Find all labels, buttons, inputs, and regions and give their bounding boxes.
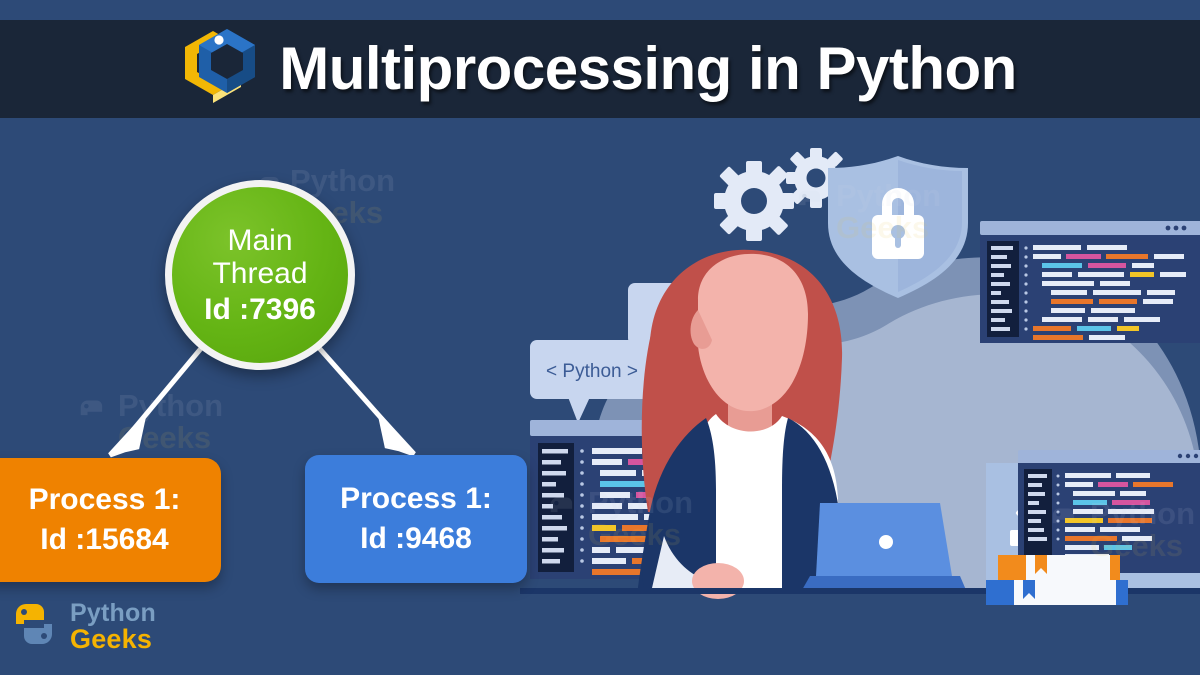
watermark: Python Geeks xyxy=(118,390,223,453)
top-strip xyxy=(0,0,1200,20)
arrow-to-process-left xyxy=(133,340,208,430)
code-window-bottom-right xyxy=(1018,450,1200,573)
screenshot-root: Multiprocessing in Python xyxy=(0,0,1200,675)
process-box-orange[interactable]: Process 1: Id :15684 xyxy=(0,458,221,582)
brand-logo: Python Geeks xyxy=(6,596,156,657)
process-blue-id: Id :9468 xyxy=(360,519,472,559)
python-bubble-text: < Python > xyxy=(546,361,638,382)
process-box-blue[interactable]: Process 1: Id :9468 xyxy=(305,455,527,583)
python-geeks-hexagon-logo xyxy=(183,25,261,114)
header-bar: Multiprocessing in Python xyxy=(0,20,1200,118)
main-thread-line1: Main xyxy=(227,224,292,258)
illustration: </> < Python > xyxy=(520,118,1200,675)
code-window-top-right xyxy=(980,221,1200,343)
process-blue-label: Process 1: xyxy=(340,479,492,519)
python-snake-logo xyxy=(6,596,62,657)
watermark-line2: Geeks xyxy=(118,422,223,454)
page-title: Multiprocessing in Python xyxy=(279,39,1017,99)
main-thread-id: Id :7396 xyxy=(204,293,316,327)
process-orange-id: Id :15684 xyxy=(40,520,168,560)
books-stack xyxy=(986,555,1128,605)
arrow-to-process-right xyxy=(312,340,390,428)
brand-line2: Geeks xyxy=(70,626,156,653)
watermark-line1: Python xyxy=(118,390,223,422)
brand-line1: Python xyxy=(70,601,156,626)
process-orange-label: Process 1: xyxy=(29,480,181,520)
main-thread-line2: Thread xyxy=(212,257,307,291)
main-thread-node[interactable]: Main Thread Id :7396 xyxy=(165,180,355,370)
gear-icon xyxy=(714,161,794,241)
